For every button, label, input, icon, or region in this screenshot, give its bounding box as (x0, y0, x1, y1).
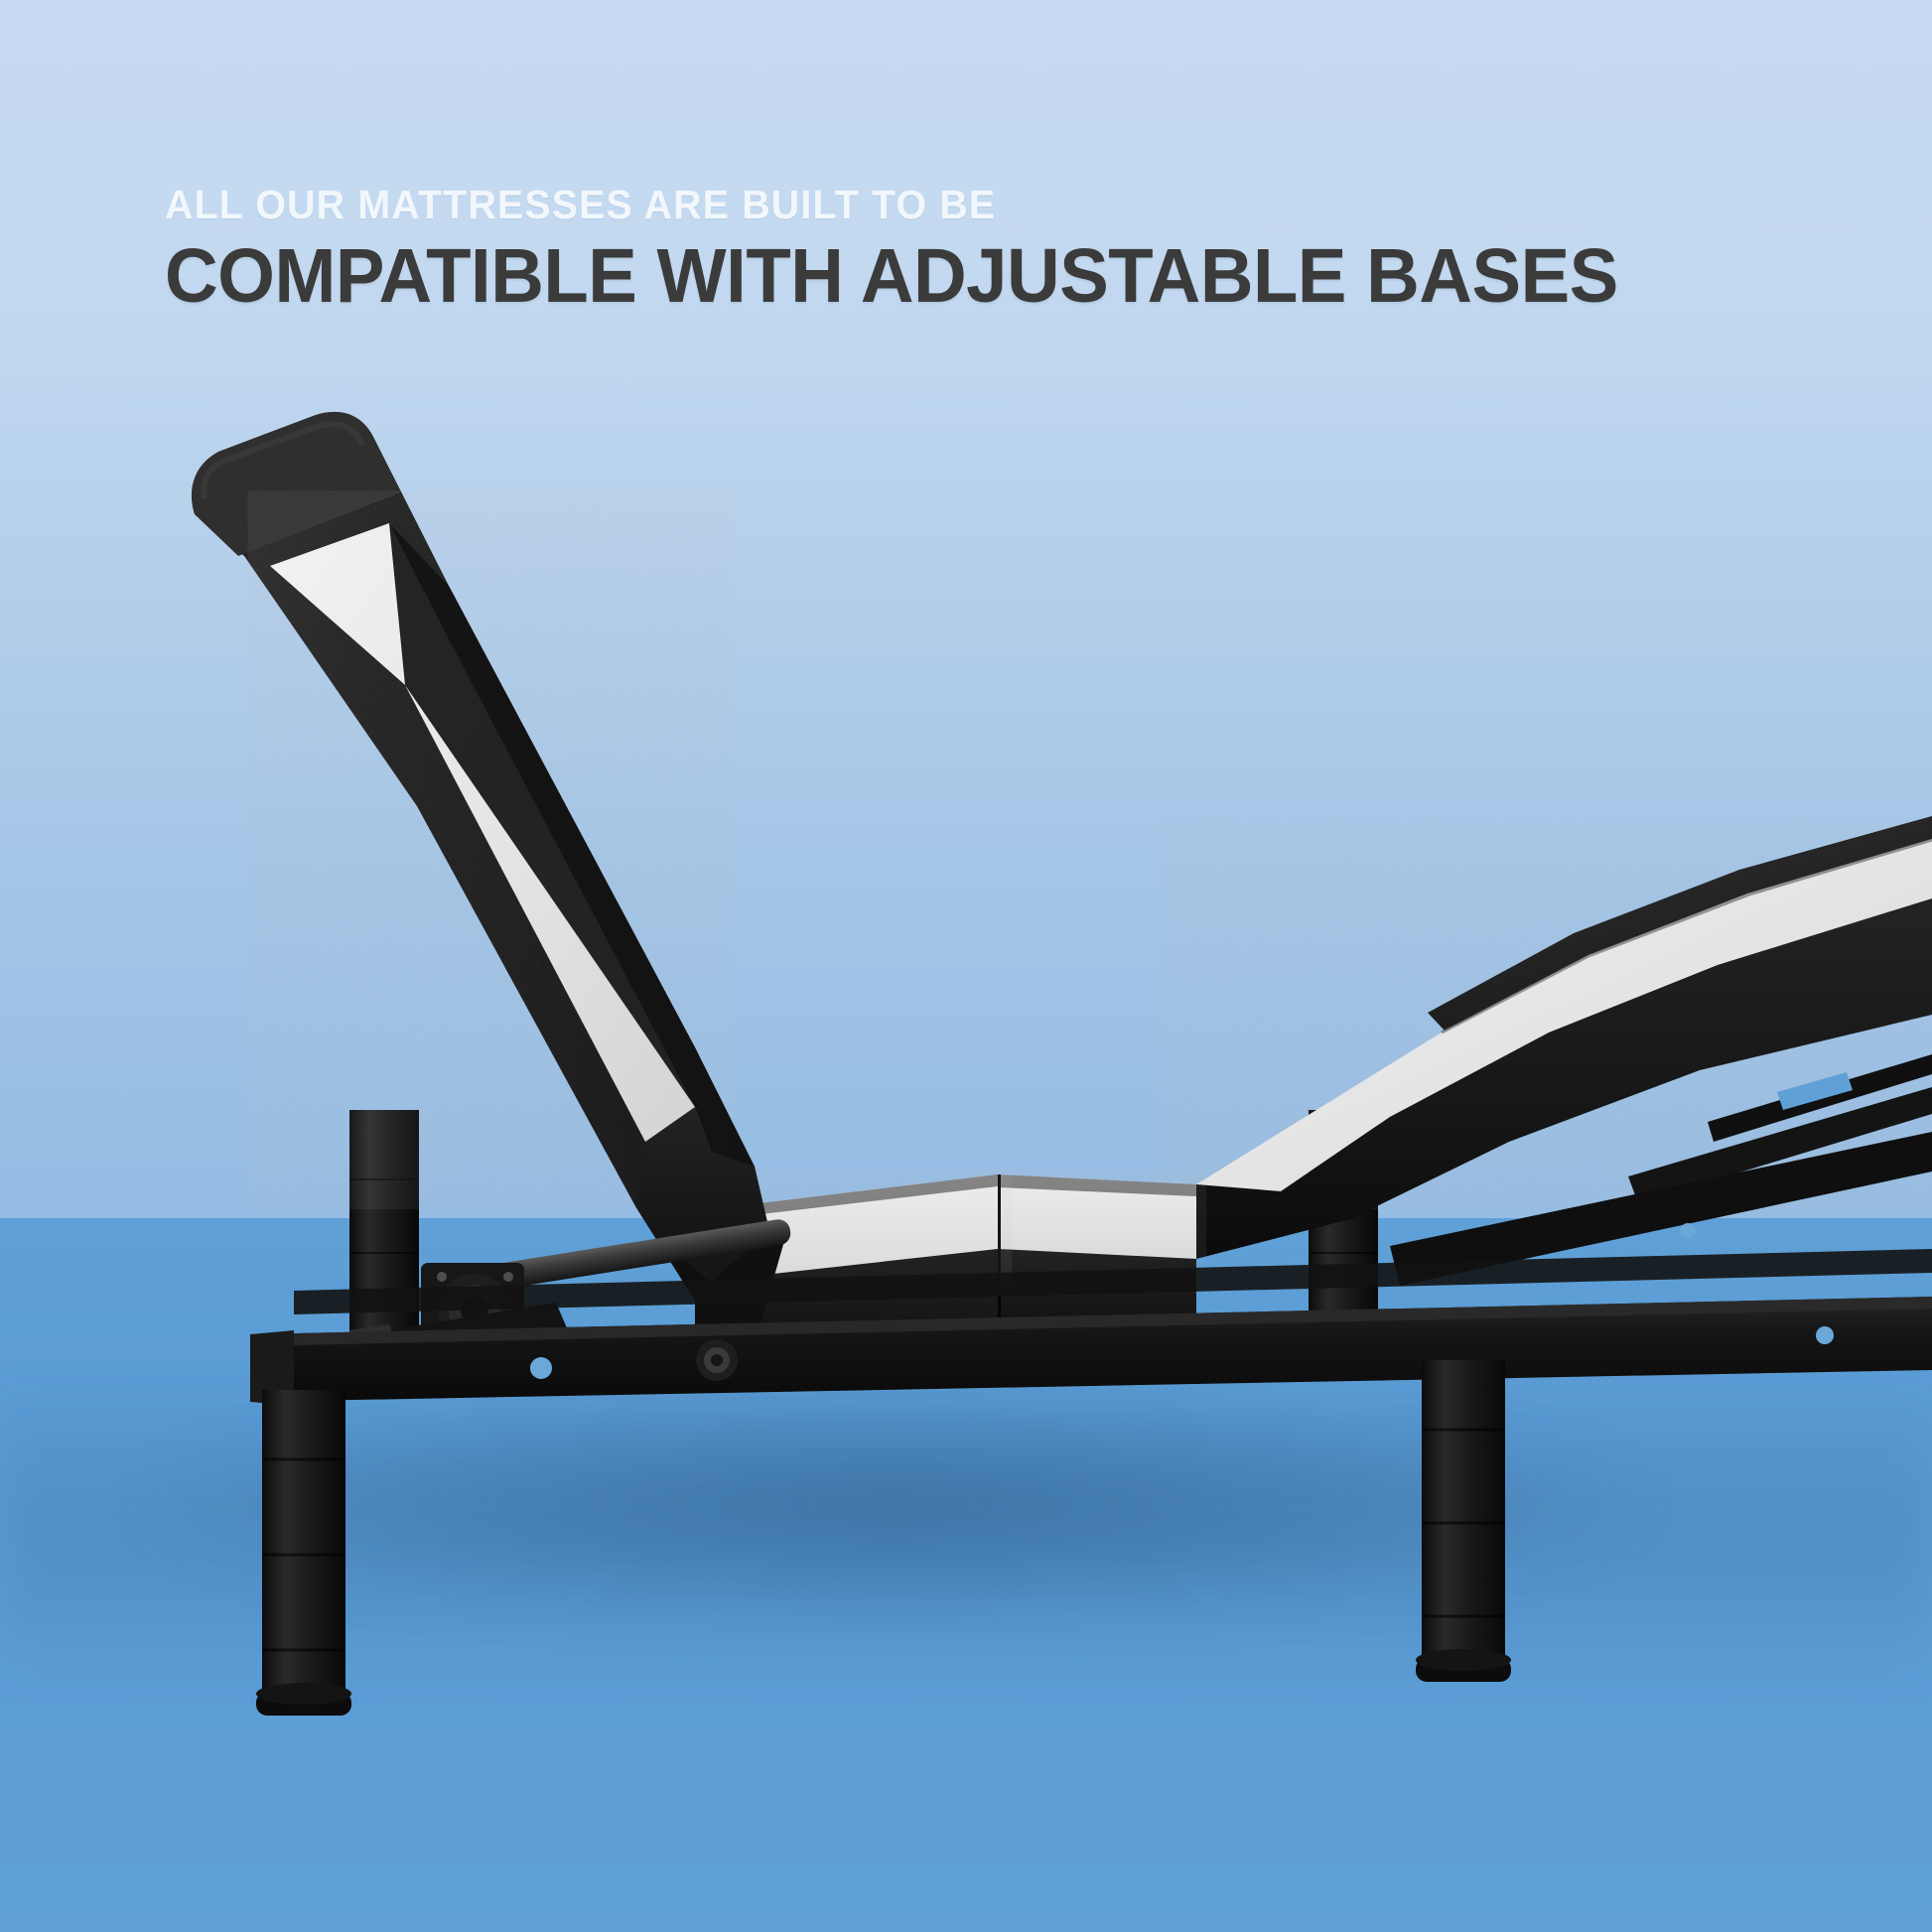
marketing-banner: ALL OUR MATTRESSES ARE BUILT TO BE COMPA… (0, 0, 1932, 1932)
headline-block: ALL OUR MATTRESSES ARE BUILT TO BE COMPA… (165, 185, 1853, 315)
leg-front-left (256, 1390, 351, 1716)
head-section (192, 412, 784, 1350)
eyebrow-text: ALL OUR MATTRESSES ARE BUILT TO BE (165, 185, 1785, 225)
leg-front-right (1416, 1360, 1511, 1682)
page-title: COMPATIBLE WITH ADJUSTABLE BASES (165, 238, 1794, 315)
bed-front-legs-group (256, 1360, 1511, 1716)
